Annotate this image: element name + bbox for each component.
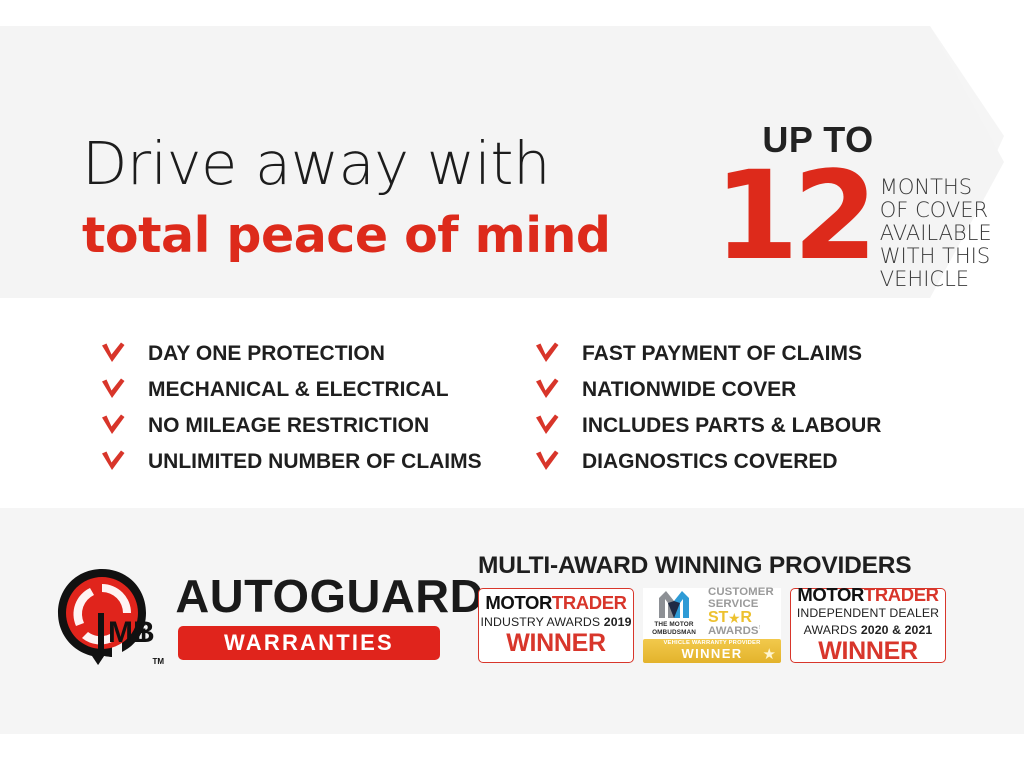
check-icon <box>100 413 126 437</box>
headline-line-1: Drive away with <box>82 134 682 193</box>
csa-awards-line: AWARDS! <box>708 626 780 638</box>
offer-detail-line-4: WITH THIS <box>880 245 992 268</box>
csa-star-line: ST ★ R <box>708 610 780 626</box>
badge-subtitle-text: INDUSTRY AWARDS <box>481 615 601 629</box>
offer-detail-line-2: OF COVER <box>880 199 992 222</box>
badge-awards-word: AWARDS <box>804 623 858 637</box>
csa-st-text: ST <box>708 610 728 626</box>
feature-label: UNLIMITED NUMBER OF CLAIMS <box>148 451 482 472</box>
offer-detail-lines: MONTHS OF COVER AVAILABLE WITH THIS VEHI… <box>880 176 992 291</box>
badge-subtitle: INDEPENDENT DEALER <box>797 606 939 621</box>
feature-item: INCLUDES PARTS & LABOUR <box>534 408 974 442</box>
award-badge-motortrader-2019: MOTORTRADER INDUSTRY AWARDS 2019 WINNER <box>478 588 634 663</box>
awards-section: MULTI-AWARD WINNING PROVIDERS MOTORTRADE… <box>478 554 978 663</box>
awards-title: MULTI-AWARD WINNING PROVIDERS <box>478 554 978 579</box>
check-icon <box>534 413 560 437</box>
footer-content: MB i TM AUTOGUARD WARRANTIES MULTI-AWARD… <box>0 508 1024 734</box>
feature-label: FAST PAYMENT OF CLAIMS <box>582 343 862 364</box>
csa-awards-mark: ! <box>759 625 761 631</box>
award-badge-motortrader-2020-2021: MOTORTRADER INDEPENDENT DEALER AWARDS 20… <box>790 588 946 663</box>
feature-column-right: FAST PAYMENT OF CLAIMS NATIONWIDE COVER … <box>534 336 974 486</box>
star-icon: ★ <box>763 647 776 662</box>
vehicle-warranty-winner-bar: VEHICLE WARRANTY PROVIDER WINNER ★ <box>643 639 781 663</box>
badge-brand-motor: MOTOR <box>485 592 552 613</box>
offer-months-number: 12 <box>714 160 872 272</box>
feature-label: MECHANICAL & ELECTRICAL <box>148 379 449 400</box>
feature-label: NO MILEAGE RESTRICTION <box>148 415 429 436</box>
headline-line-2: total peace of mind <box>82 211 682 260</box>
trademark-mark: TM <box>152 657 164 666</box>
badge-winner-label: WINNER <box>506 631 606 656</box>
feature-label: DAY ONE PROTECTION <box>148 343 385 364</box>
advert-canvas: Drive away with total peace of mind UP T… <box>0 0 1024 768</box>
feature-label: INCLUDES PARTS & LABOUR <box>582 415 881 436</box>
feature-item: UNLIMITED NUMBER OF CLAIMS <box>100 444 540 478</box>
motor-ombudsman-logo: THE MOTOR OMBUDSMAN <box>643 589 705 637</box>
check-icon <box>534 449 560 473</box>
csa-line-1: CUSTOMER <box>708 587 780 599</box>
warranties-bar: WARRANTIES <box>178 626 440 660</box>
badge-brand: MOTORTRADER <box>797 586 938 605</box>
badge-subtitle: INDUSTRY AWARDS 2019 <box>481 615 632 630</box>
ombudsman-label: THE MOTOR OMBUDSMAN <box>652 621 696 637</box>
badge-brand-trader: TRADER <box>864 584 939 605</box>
badge-year: 2019 <box>604 615 632 629</box>
feature-item: DIAGNOSTICS COVERED <box>534 444 974 478</box>
check-icon <box>534 341 560 365</box>
check-icon <box>100 341 126 365</box>
feature-column-left: DAY ONE PROTECTION MECHANICAL & ELECTRIC… <box>100 336 540 486</box>
brand-lockup: MB i TM AUTOGUARD WARRANTIES <box>52 566 440 666</box>
headline: Drive away with total peace of mind <box>82 134 682 260</box>
award-badges: MOTORTRADER INDUSTRY AWARDS 2019 WINNER <box>478 588 978 663</box>
customer-service-awards-logo: CUSTOMER SERVICE ST ★ R AWARDS! <box>708 587 780 638</box>
star-icon: ★ <box>728 611 740 625</box>
check-icon <box>100 449 126 473</box>
check-icon <box>100 377 126 401</box>
mbi-logo: MB i TM <box>52 566 160 666</box>
ombudsman-line-2: OMBUDSMAN <box>652 629 696 636</box>
offer-block: UP TO 12 MONTHS OF COVER AVAILABLE WITH … <box>718 122 968 302</box>
ombudsman-line-1: THE MOTOR <box>654 621 693 628</box>
header-content: Drive away with total peace of mind UP T… <box>0 26 1024 298</box>
badge-awards-years: AWARDS 2020 & 2021 <box>804 623 933 638</box>
svg-text:MB: MB <box>108 616 155 649</box>
feature-item: MECHANICAL & ELECTRICAL <box>100 372 540 406</box>
offer-detail-line-1: MONTHS <box>880 176 992 199</box>
feature-item: DAY ONE PROTECTION <box>100 336 540 370</box>
offer-detail-line-3: AVAILABLE <box>880 222 992 245</box>
autoguard-logo: AUTOGUARD WARRANTIES <box>178 573 440 660</box>
feature-item: NO MILEAGE RESTRICTION <box>100 408 540 442</box>
feature-item: FAST PAYMENT OF CLAIMS <box>534 336 974 370</box>
award-badge-customer-service-star: THE MOTOR OMBUDSMAN CUSTOMER SERVICE ST … <box>643 588 781 663</box>
offer-detail-line-5: VEHICLE <box>880 268 992 291</box>
badge-brand-motor: MOTOR <box>797 584 864 605</box>
badge-brand: MOTORTRADER <box>485 594 626 613</box>
ombudsman-m-icon <box>657 589 691 619</box>
svg-text:i: i <box>140 618 147 648</box>
feature-label: DIAGNOSTICS COVERED <box>582 451 838 472</box>
check-icon <box>534 377 560 401</box>
yellow-bar-winner-label: WINNER <box>681 647 742 660</box>
csa-awards-text: AWARDS <box>708 625 759 637</box>
badge-years: 2020 & 2021 <box>861 623 933 637</box>
autoguard-wordmark: AUTOGUARD <box>175 573 442 619</box>
csa-r-text: R <box>740 610 751 626</box>
badge-mid-top: THE MOTOR OMBUDSMAN CUSTOMER SERVICE ST … <box>643 588 781 638</box>
feature-list: DAY ONE PROTECTION MECHANICAL & ELECTRIC… <box>0 336 1024 486</box>
badge-brand-trader: TRADER <box>552 592 627 613</box>
warranties-label: WARRANTIES <box>224 630 394 656</box>
feature-item: NATIONWIDE COVER <box>534 372 974 406</box>
feature-label: NATIONWIDE COVER <box>582 379 796 400</box>
badge-winner-label: WINNER <box>818 639 918 664</box>
